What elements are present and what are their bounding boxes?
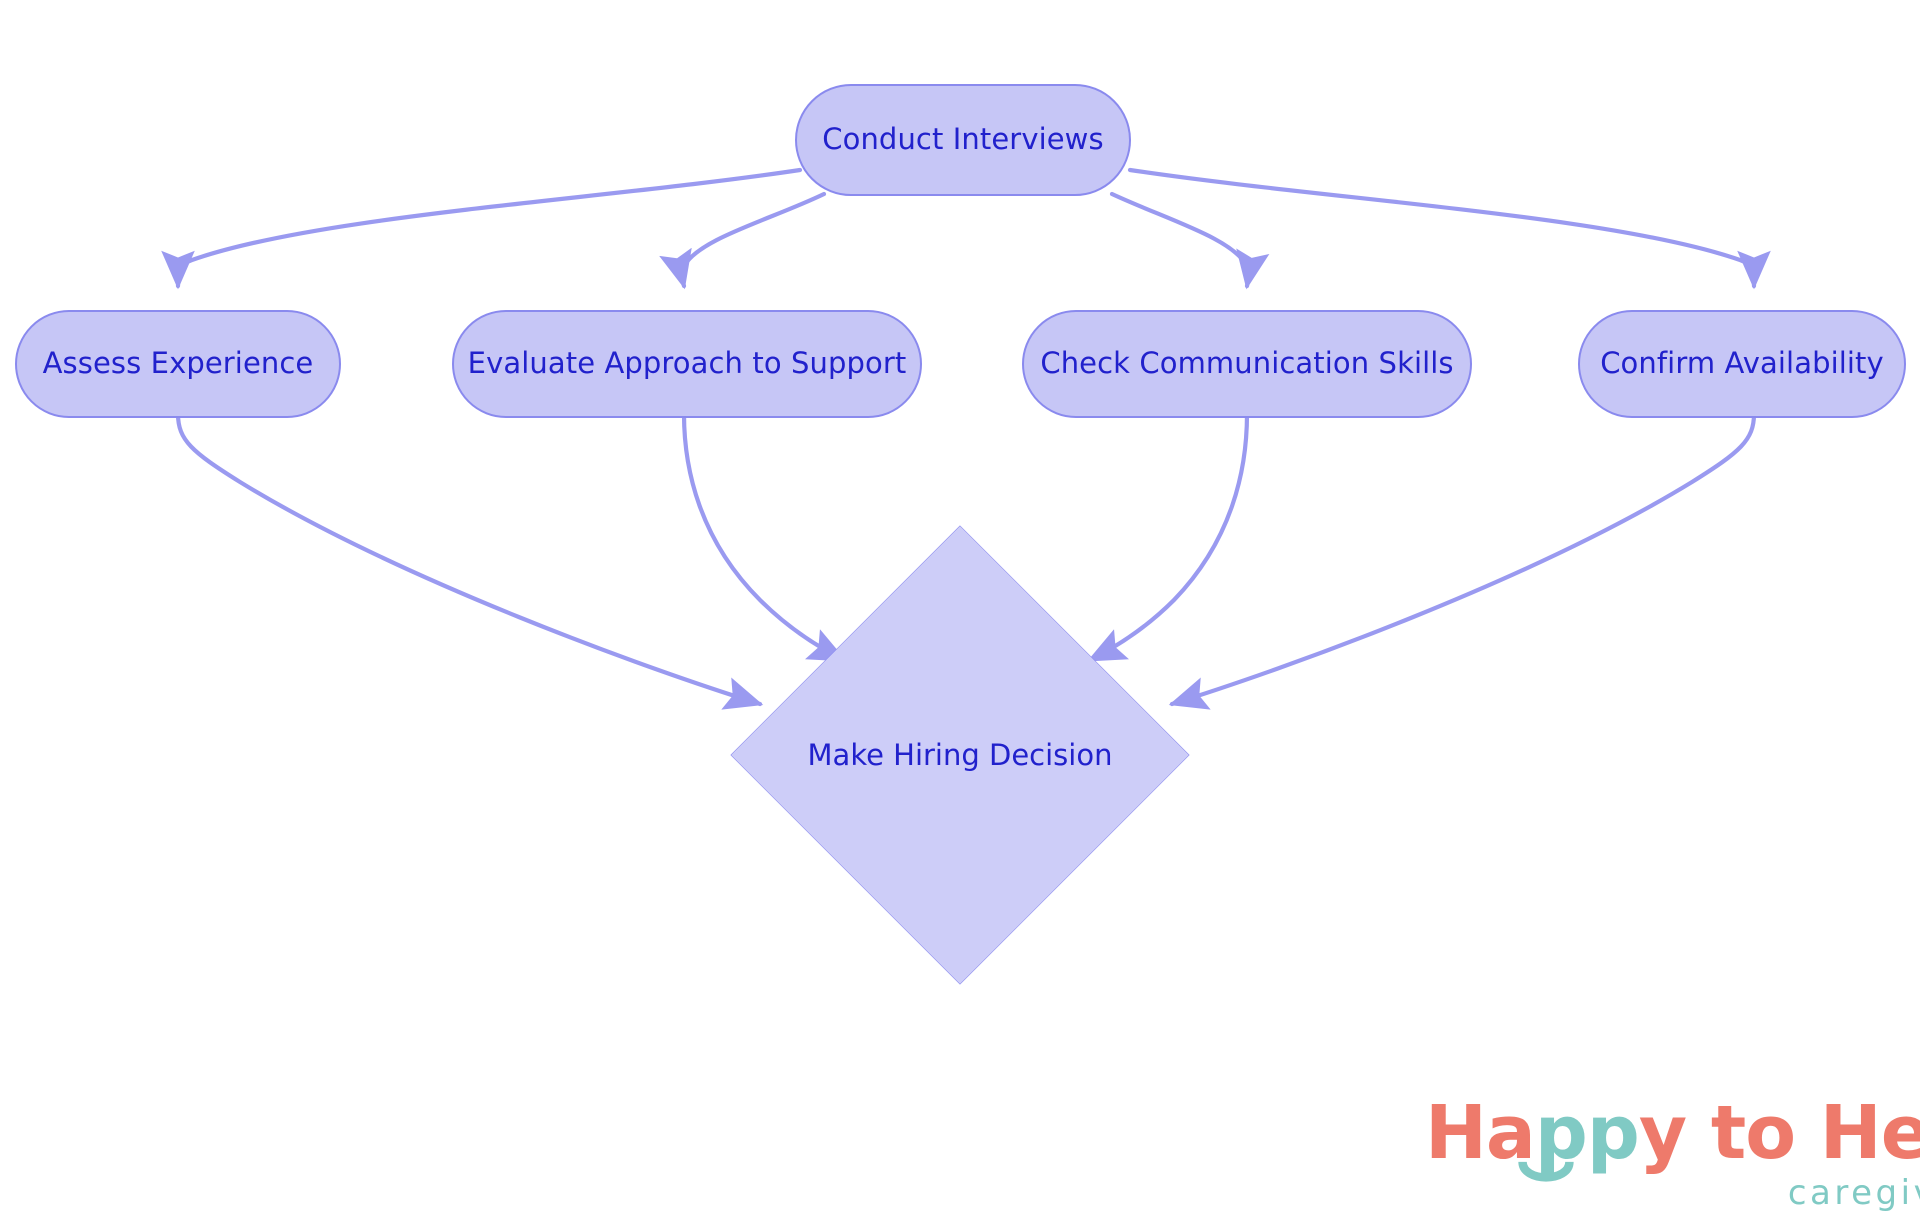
edge-conduct-interviews-to-assess-experience (178, 170, 800, 286)
node-assess-experience[interactable]: Assess Experience (15, 310, 341, 418)
edge-confirm-availability-to-decision (1172, 414, 1754, 704)
node-evaluate-approach-to-support-label: Evaluate Approach to Support (468, 348, 907, 380)
node-make-hiring-decision-label: Make Hiring Decision (808, 738, 1113, 772)
edge-conduct-interviews-to-evaluate-approach (681, 194, 824, 286)
flowchart-canvas: Conduct Interviews Assess Experience Eva… (0, 0, 1920, 1215)
logo-word-part-3: y to Help (1639, 1090, 1920, 1176)
edge-conduct-interviews-to-confirm-availability (1130, 170, 1754, 286)
node-confirm-availability[interactable]: Confirm Availability (1578, 310, 1906, 418)
node-check-communication-skills[interactable]: Check Communication Skills (1022, 310, 1472, 418)
logo-wordmark: Happy to Help (1425, 1096, 1920, 1170)
node-conduct-interviews-label: Conduct Interviews (822, 124, 1103, 156)
node-make-hiring-decision[interactable]: Make Hiring Decision (728, 523, 1192, 987)
node-check-communication-skills-label: Check Communication Skills (1040, 348, 1453, 380)
logo-tagline: caregiving (1788, 1176, 1920, 1210)
brand-logo: Happy to Help caregiving (1425, 1096, 1920, 1210)
node-evaluate-approach-to-support[interactable]: Evaluate Approach to Support (452, 310, 922, 418)
node-confirm-availability-label: Confirm Availability (1600, 348, 1884, 380)
node-assess-experience-label: Assess Experience (43, 348, 314, 380)
node-conduct-interviews[interactable]: Conduct Interviews (795, 84, 1131, 196)
edge-assess-experience-to-decision (178, 414, 760, 704)
smile-icon (1517, 1160, 1575, 1190)
edge-conduct-interviews-to-check-communication (1112, 194, 1250, 286)
